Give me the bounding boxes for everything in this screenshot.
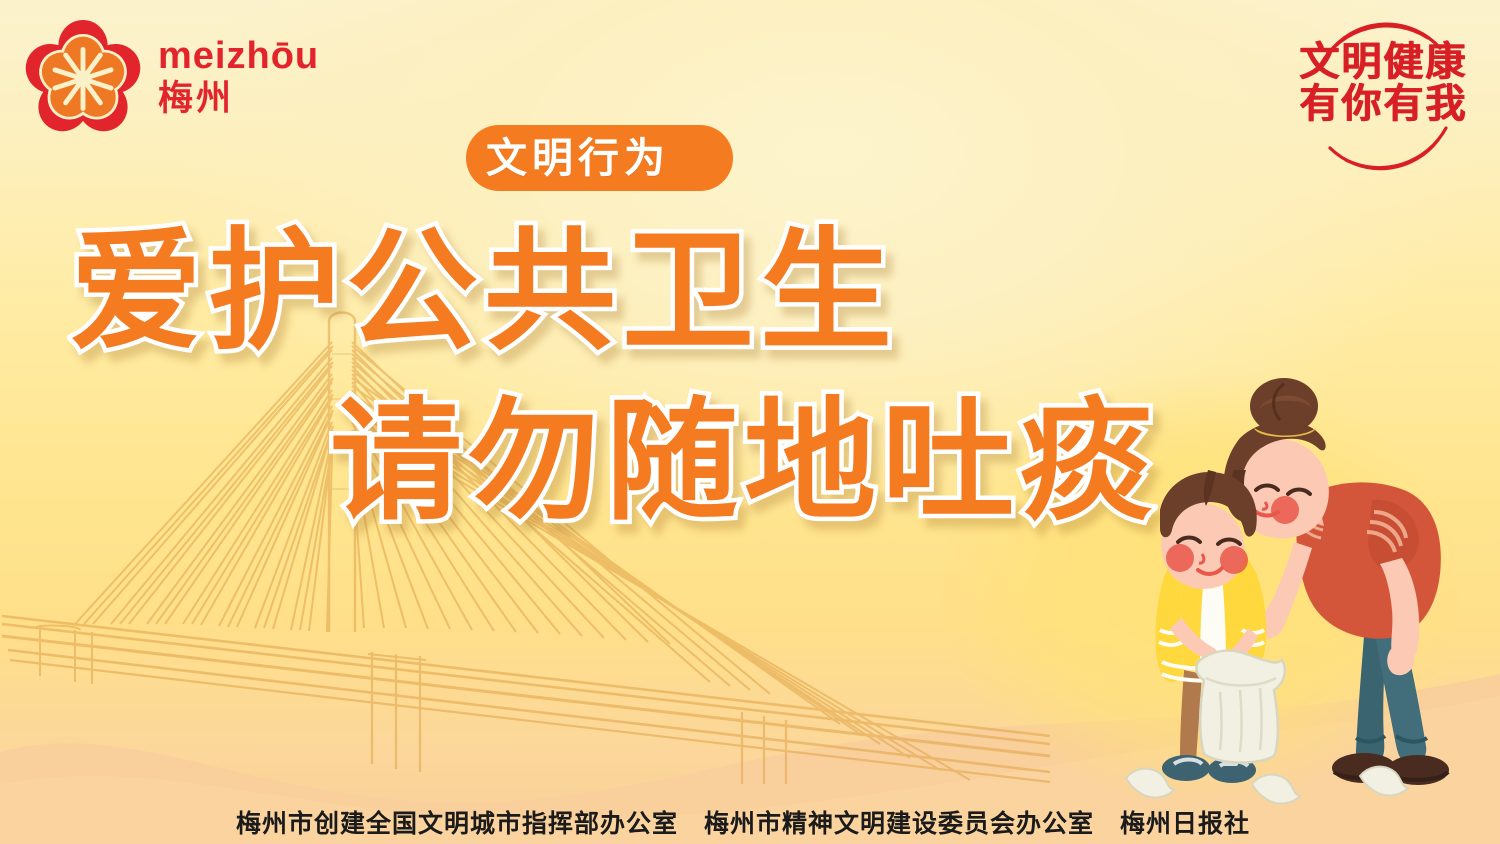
health-slogan-badge: 文明健康 有你有我 — [1288, 8, 1478, 186]
category-pill-label: 文明行为 — [466, 125, 690, 191]
mother-and-child-illustration — [1122, 378, 1474, 808]
logo-wordmark: meizhōu 梅州 — [158, 37, 319, 117]
meizhou-logo: meizhōu 梅州 — [24, 18, 319, 136]
trash-bag — [1197, 651, 1285, 763]
headline-line-1: 爱护公共卫生 — [0, 215, 1500, 371]
badge-line-1: 文明健康 — [1288, 42, 1478, 84]
plum-blossom-flower-icon — [24, 18, 142, 136]
badge-line-2: 有你有我 — [1288, 84, 1478, 126]
crumpled-tissue — [1252, 775, 1300, 804]
poster-canvas: meizhōu 梅州 文明健康 有你有我 — [0, 0, 1500, 844]
logo-pinyin: meizhōu — [158, 37, 319, 75]
badge-slogan-text: 文明健康 有你有我 — [1288, 42, 1478, 125]
category-pill: 文明行为 — [466, 125, 690, 191]
footer-organizations: 梅州市创建全国文明城市指挥部办公室 梅州市精神文明建设委员会办公室 梅州日报社 — [236, 804, 1264, 840]
footer-bar: 梅州市创建全国文明城市指挥部办公室 梅州市精神文明建设委员会办公室 梅州日报社 — [0, 804, 1500, 840]
logo-chinese-name: 梅州 — [158, 82, 319, 117]
